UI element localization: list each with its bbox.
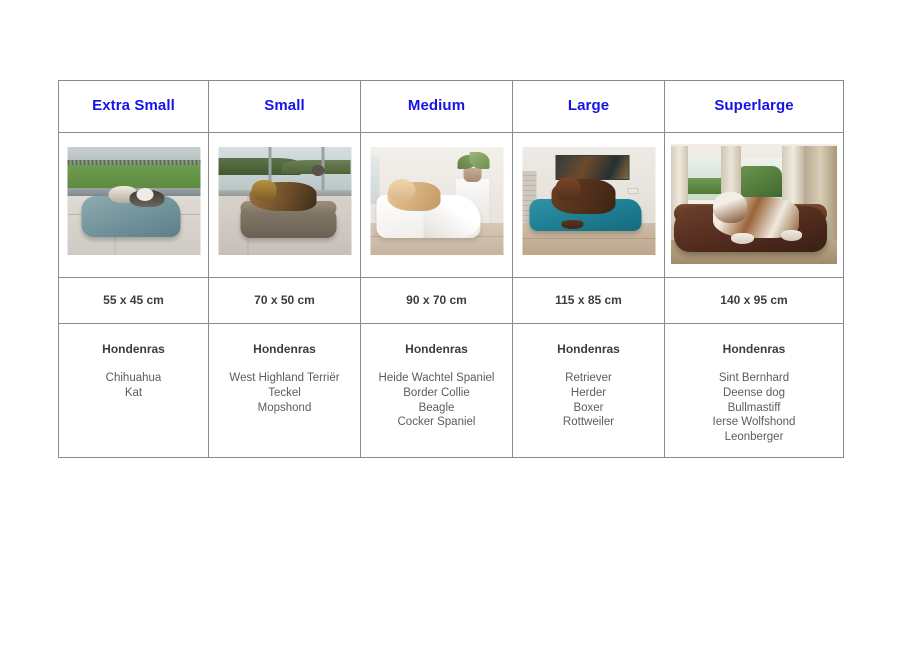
header-cell-small: Small (209, 81, 361, 133)
product-photo-large (522, 147, 655, 255)
header-cell-extra-small: Extra Small (59, 81, 209, 133)
breed-cell-extra-small: Hondenras ChihuahuaKat (59, 324, 209, 458)
breed-item: Heide Wachtel Spaniel (361, 371, 512, 386)
breed-box: Hondenras West Highland TerriërTeckelMop… (209, 324, 360, 415)
product-photo-medium (370, 147, 503, 255)
breed-item: Leonberger (665, 430, 843, 445)
size-header-label: Superlarge (665, 98, 843, 115)
breed-item: Mopshond (209, 401, 360, 416)
product-photo-superlarge (671, 144, 837, 264)
product-photo-extra-small (67, 147, 200, 255)
size-header-label: Medium (361, 98, 512, 115)
dimension-cell-medium: 90 x 70 cm (361, 278, 513, 324)
dimension-label: 70 x 50 cm (209, 293, 360, 307)
breed-cell-small: Hondenras West Highland TerriërTeckelMop… (209, 324, 361, 458)
breed-cell-medium: Hondenras Heide Wachtel SpanielBorder Co… (361, 324, 513, 458)
table-row-dimensions: 55 x 45 cm 70 x 50 cm 90 x 70 cm 115 x 8… (59, 278, 844, 324)
breed-item: Chihuahua (59, 371, 208, 386)
table-row-product-photos (59, 133, 844, 278)
breed-item: West Highland Terriër (209, 371, 360, 386)
dimension-cell-superlarge: 140 x 95 cm (665, 278, 844, 324)
photo-cell-small (209, 133, 361, 278)
photo-scene (67, 147, 200, 255)
photo-cell-extra-small (59, 133, 209, 278)
breed-item: Ierse Wolfshond (665, 415, 843, 430)
breed-section-title: Hondenras (513, 342, 664, 356)
breed-item: Border Collie (361, 386, 512, 401)
size-header-label: Large (513, 98, 664, 115)
breed-section-title: Hondenras (665, 342, 843, 356)
breed-item: Bullmastiff (665, 401, 843, 416)
breed-box: Hondenras Heide Wachtel SpanielBorder Co… (361, 324, 512, 430)
photo-wrap (665, 133, 843, 277)
breed-list: West Highland TerriërTeckelMopshond (209, 371, 360, 415)
dimension-label: 140 x 95 cm (665, 293, 843, 307)
dimension-cell-small: 70 x 50 cm (209, 278, 361, 324)
size-header-label: Extra Small (59, 98, 208, 115)
size-header-label: Small (209, 98, 360, 115)
breed-list: Sint BernhardDeense dogBullmastiffIerse … (665, 371, 843, 444)
breed-item: Beagle (361, 401, 512, 416)
breed-box: Hondenras ChihuahuaKat (59, 324, 208, 401)
dimension-label: 55 x 45 cm (59, 293, 208, 307)
breed-section-title: Hondenras (209, 342, 360, 356)
photo-cell-large (513, 133, 665, 278)
breed-list: ChihuahuaKat (59, 371, 208, 400)
breed-item: Cocker Spaniel (361, 415, 512, 430)
breed-item: Herder (513, 386, 664, 401)
product-photo-small (218, 147, 351, 255)
dimension-cell-extra-small: 55 x 45 cm (59, 278, 209, 324)
breed-item: Sint Bernhard (665, 371, 843, 386)
breed-item: Deense dog (665, 386, 843, 401)
breed-section-title: Hondenras (361, 342, 512, 356)
page-canvas: Extra Small Small Medium Large Superlarg… (0, 0, 900, 660)
photo-wrap (361, 133, 512, 277)
photo-cell-medium (361, 133, 513, 278)
breed-item: Rottweiler (513, 415, 664, 430)
breed-box: Hondenras RetrieverHerderBoxerRottweiler (513, 324, 664, 430)
photo-scene (218, 147, 351, 255)
dog-bed-size-table: Extra Small Small Medium Large Superlarg… (58, 80, 844, 458)
table-row-breeds: Hondenras ChihuahuaKat Hondenras West Hi… (59, 324, 844, 458)
breed-box: Hondenras Sint BernhardDeense dogBullmas… (665, 324, 843, 444)
breed-list: RetrieverHerderBoxerRottweiler (513, 371, 664, 429)
photo-wrap (59, 133, 208, 277)
photo-scene (370, 147, 503, 255)
breed-item: Kat (59, 386, 208, 401)
breed-cell-large: Hondenras RetrieverHerderBoxerRottweiler (513, 324, 665, 458)
header-cell-superlarge: Superlarge (665, 81, 844, 133)
breed-section-title: Hondenras (59, 342, 208, 356)
breed-list: Heide Wachtel SpanielBorder CollieBeagle… (361, 371, 512, 429)
dimension-label: 115 x 85 cm (513, 293, 664, 307)
table-row-size-headers: Extra Small Small Medium Large Superlarg… (59, 81, 844, 133)
photo-wrap (209, 133, 360, 277)
breed-cell-superlarge: Hondenras Sint BernhardDeense dogBullmas… (665, 324, 844, 458)
breed-item: Retriever (513, 371, 664, 386)
photo-scene (671, 144, 837, 264)
header-cell-medium: Medium (361, 81, 513, 133)
breed-item: Teckel (209, 386, 360, 401)
photo-scene (522, 147, 655, 255)
photo-cell-superlarge (665, 133, 844, 278)
dimension-label: 90 x 70 cm (361, 293, 512, 307)
breed-item: Boxer (513, 401, 664, 416)
photo-wrap (513, 133, 664, 277)
dimension-cell-large: 115 x 85 cm (513, 278, 665, 324)
header-cell-large: Large (513, 81, 665, 133)
